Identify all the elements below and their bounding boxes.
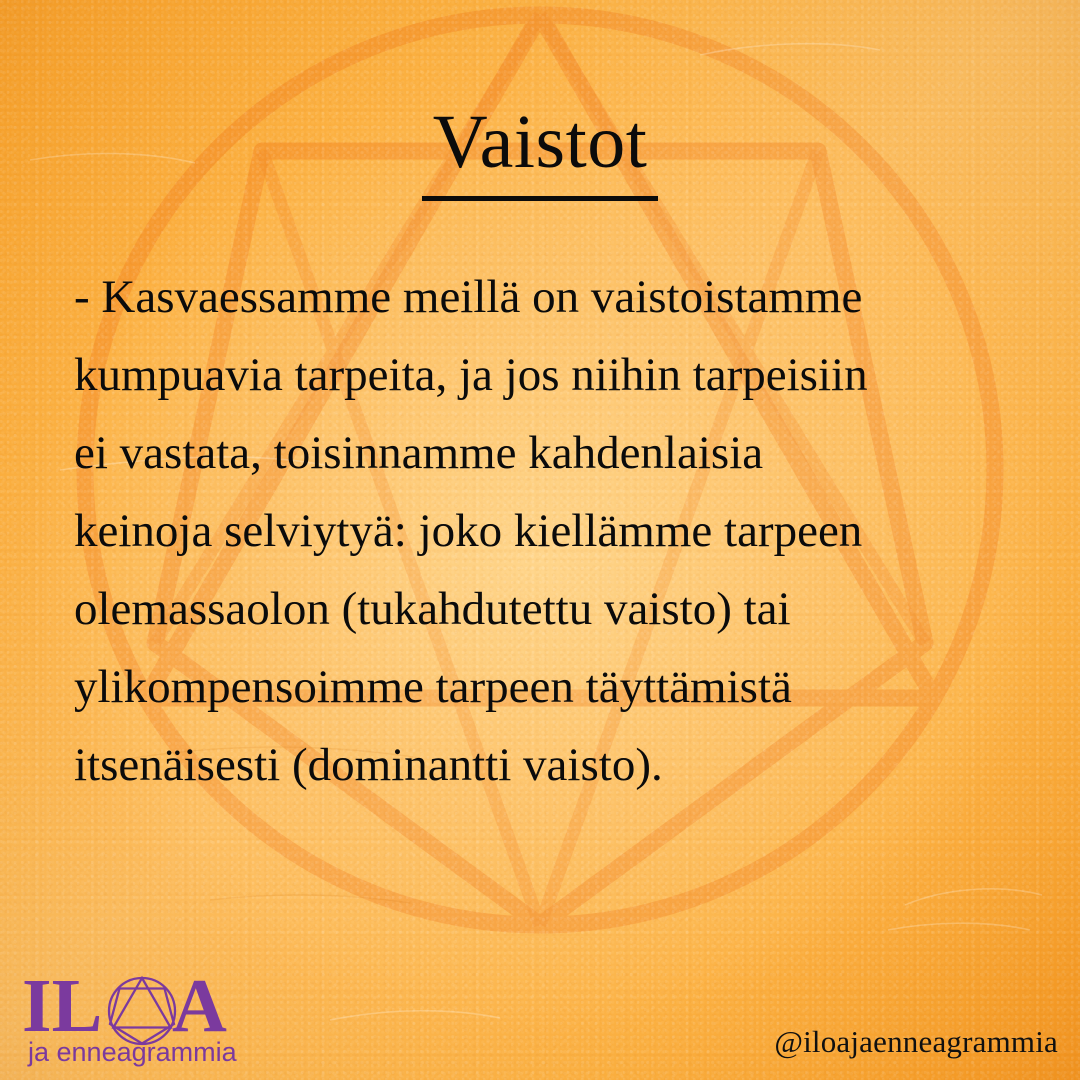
social-handle[interactable]: @iloajaenneagrammia xyxy=(774,1024,1058,1060)
enneagram-icon xyxy=(109,978,175,1044)
logo-wordmark-right: A xyxy=(172,964,227,1048)
quote-card: Vaistot - Kasvaessamme meillä on vaistoi… xyxy=(0,0,1080,1080)
title-block: Vaistot xyxy=(0,100,1080,201)
logo-subtitle: ja enneagrammia xyxy=(27,1037,238,1067)
logo-wordmark-left: IL xyxy=(22,964,102,1048)
body-text: - Kasvaessamme meillä on vaistoistamme k… xyxy=(74,258,1074,804)
title-underline-rule xyxy=(422,196,658,201)
brand-logo[interactable]: IL A ja enneagrammia xyxy=(22,963,262,1068)
page-title: Vaistot xyxy=(0,100,1080,184)
